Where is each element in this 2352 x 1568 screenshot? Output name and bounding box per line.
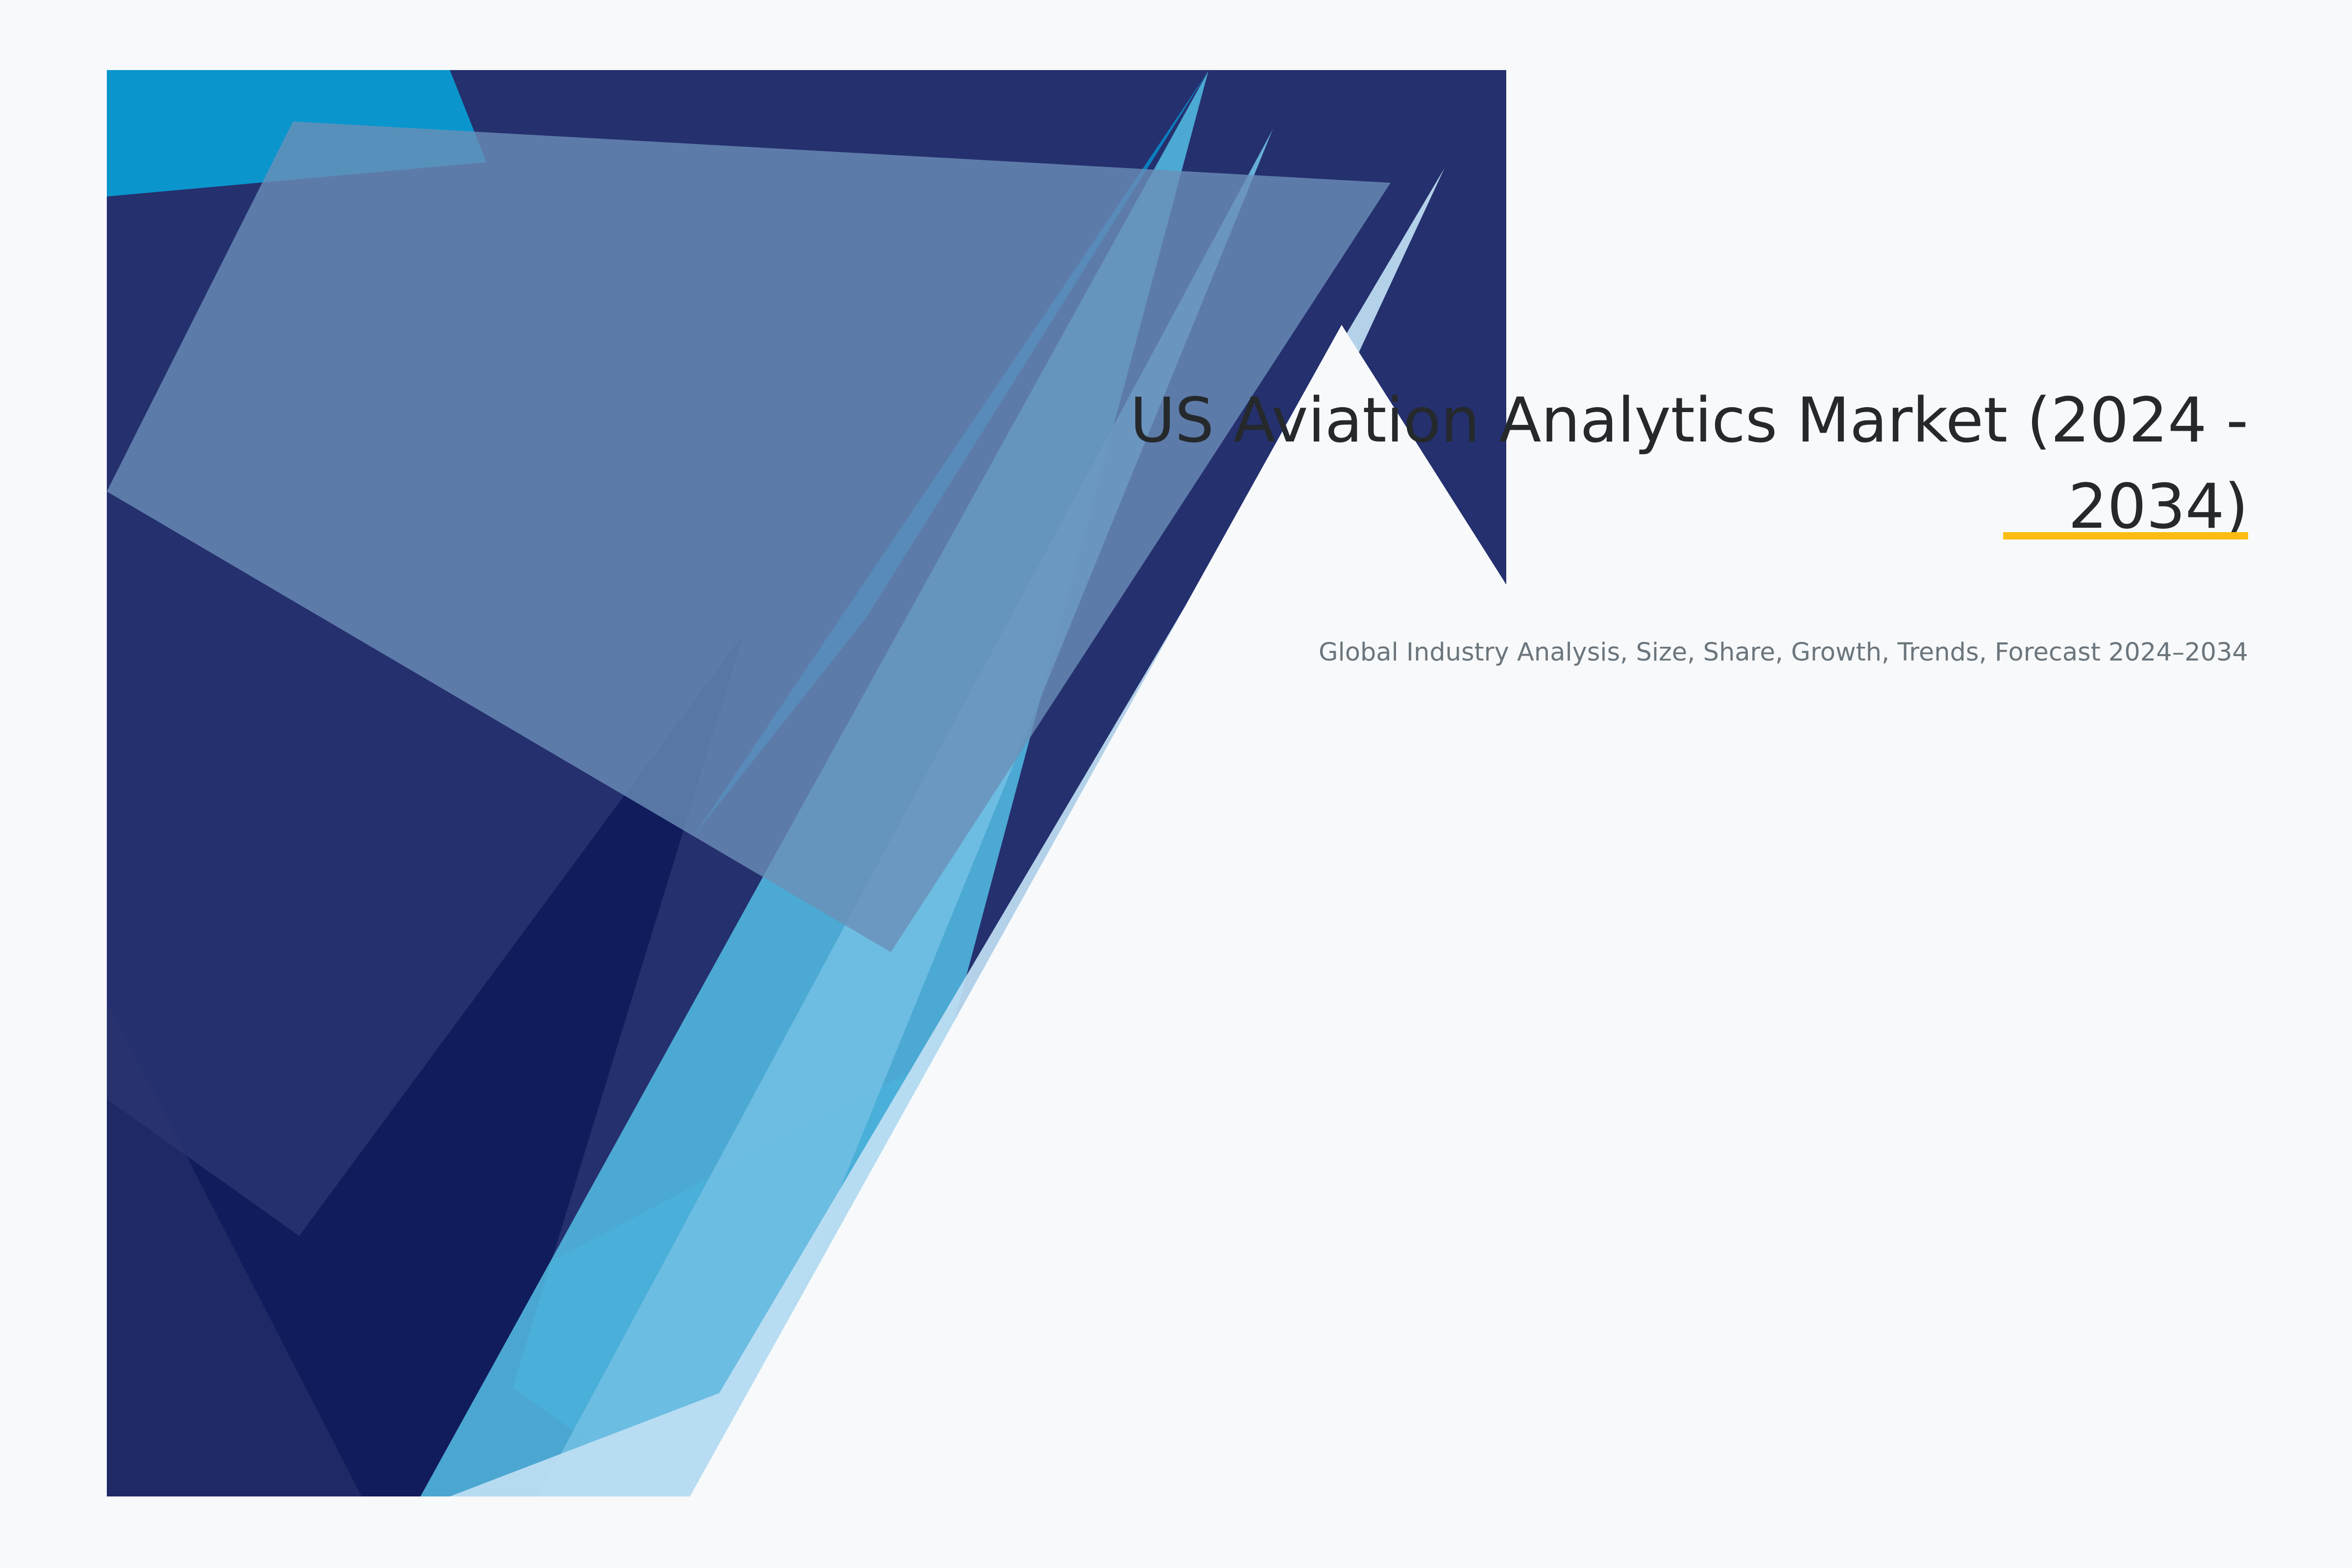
- page-subtitle: Global Industry Analysis, Size, Share, G…: [931, 550, 2248, 667]
- abstract-geometric-graphic: [107, 70, 1506, 1496]
- title-accent-underline: [2003, 532, 2248, 539]
- cover-artwork: [107, 70, 1506, 1496]
- page-title: US Aviation Analytics Market (2024 - 203…: [931, 377, 2248, 550]
- cover-text-block: US Aviation Analytics Market (2024 - 203…: [931, 377, 2248, 667]
- cover-page: US Aviation Analytics Market (2024 - 203…: [0, 0, 2352, 1568]
